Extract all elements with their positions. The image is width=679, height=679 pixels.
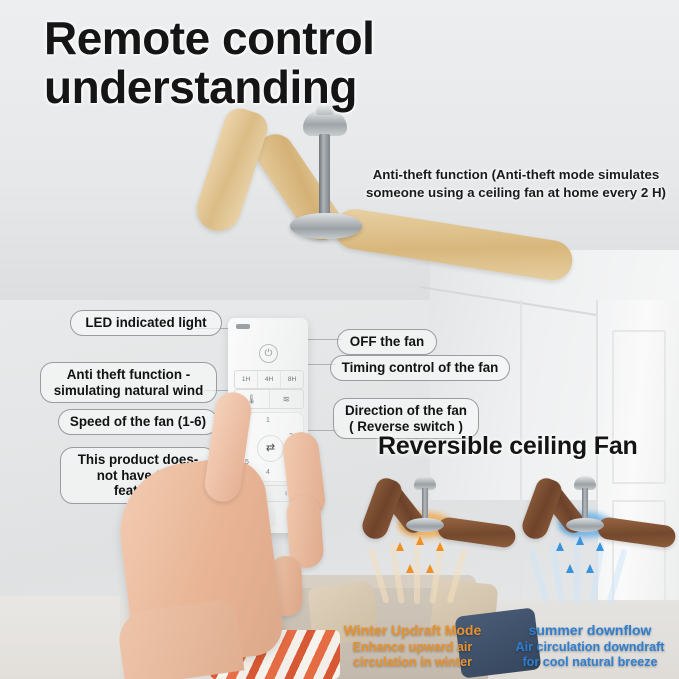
fan-blade-upper: [191, 104, 271, 236]
led-indicator-window: [236, 324, 250, 329]
fan-motor-housing: [290, 213, 362, 239]
summer-arrow-1: [556, 542, 564, 551]
summer-downrod: [582, 488, 588, 522]
anti-theft-note: Anti-theft function (Anti-theft mode sim…: [356, 166, 676, 203]
fan-downrod: [319, 134, 330, 219]
summer-caption: summer downflow Air circulation downdraf…: [500, 622, 679, 670]
summer-caption-heading: summer downflow: [500, 622, 679, 639]
summer-arrow-5: [586, 564, 594, 573]
winter-arrow-3: [436, 542, 444, 551]
fan-canopy: [303, 110, 347, 136]
winter-caption-body: Enhance upward air circulation in winter: [330, 640, 495, 670]
summer-airflow: [532, 534, 642, 614]
summer-motor-housing: [566, 518, 604, 532]
winter-arrow-5: [426, 564, 434, 573]
left-wall: [0, 596, 120, 679]
summer-arrow-2: [576, 536, 584, 545]
summer-arrow-4: [566, 564, 574, 573]
product-infographic: Remote control understanding Anti-theft …: [0, 0, 679, 679]
winter-airflow: [372, 534, 482, 614]
winter-caption: Winter Updraft Mode Enhance upward air c…: [330, 622, 495, 670]
hand-holding-remote: [118, 370, 318, 679]
winter-caption-heading: Winter Updraft Mode: [330, 622, 495, 639]
summer-mode-fan: [498, 468, 668, 638]
winter-arrow-1: [396, 542, 404, 551]
winter-mode-fan: [338, 468, 508, 638]
callout-timing-control[interactable]: Timing control of the fan: [330, 355, 510, 381]
callout-led-indicated-light[interactable]: LED indicated light: [70, 310, 222, 336]
callout-off-the-fan[interactable]: OFF the fan: [337, 329, 437, 355]
reversible-ceiling-fan-title: Reversible ceiling Fan: [378, 432, 638, 461]
page-title: Remote control understanding: [44, 14, 514, 112]
summer-caption-body: Air circulation downdraft for cool natur…: [500, 640, 679, 670]
main-ceiling-fan: [130, 110, 560, 300]
summer-arrow-3: [596, 542, 604, 551]
winter-downrod: [422, 488, 428, 522]
winter-arrow-4: [406, 564, 414, 573]
winter-motor-housing: [406, 518, 444, 532]
fan-blade-right: [332, 206, 575, 283]
power-icon[interactable]: ⏻: [259, 344, 278, 363]
winter-arrow-2: [416, 536, 424, 545]
